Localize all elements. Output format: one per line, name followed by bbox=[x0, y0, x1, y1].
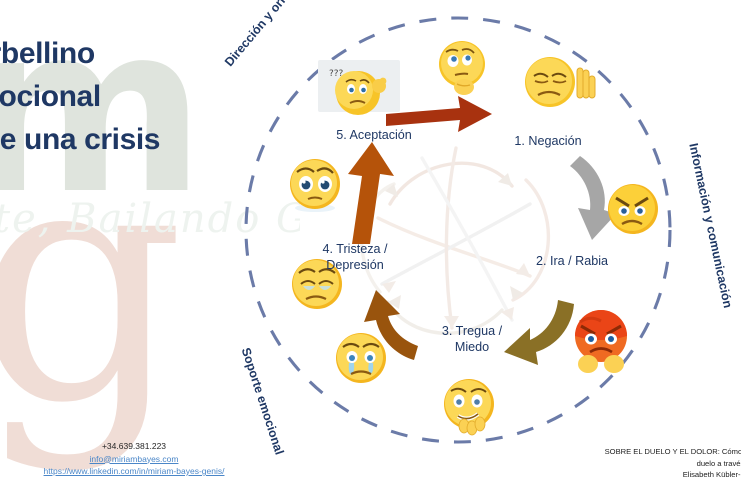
stage-label-5: 5. Aceptación bbox=[314, 128, 434, 144]
source-line-1: SOBRE EL DUELO Y EL DOLOR: Cómo encon bbox=[520, 446, 741, 458]
slide-canvas: m g te, Bailando Greis Torbellino emocio… bbox=[0, 0, 741, 486]
stage-label-2: 2. Ira / Rabia bbox=[512, 254, 632, 270]
grief-cycle-diagram: ??? bbox=[230, 8, 741, 478]
face-sad-single-tear bbox=[332, 328, 390, 388]
face-angry bbox=[604, 180, 662, 238]
face-dismissive-hand bbox=[520, 52, 598, 112]
source-line-3: Elisabeth Kübler-Ross & bbox=[520, 469, 741, 481]
contact-block: +34.639.381.223 info@miriambayes.com htt… bbox=[0, 440, 268, 478]
face-rage-red-fists bbox=[568, 306, 634, 374]
watermark-letter-g: g bbox=[0, 118, 185, 448]
page-title: Torbellino emocional ante una crisis bbox=[0, 32, 226, 161]
source-line-2: duelo a través de su bbox=[520, 458, 741, 470]
page-title-line-3: ante una crisis bbox=[0, 118, 226, 161]
face-thinking-hand-chin bbox=[433, 36, 493, 98]
contact-linkedin-link[interactable]: https://www.linkedin.com/in/miriam-bayes… bbox=[44, 466, 225, 476]
face-thinking-scratching-head: ??? bbox=[327, 60, 389, 118]
source-citation: SOBRE EL DUELO Y EL DOLOR: Cómo encon du… bbox=[520, 446, 741, 481]
arrow-acceptance-to-denial bbox=[386, 96, 492, 132]
arrow-sadness-to-acceptance bbox=[348, 142, 394, 244]
stage-label-3: 3. Tregua / Miedo bbox=[412, 324, 532, 355]
face-worried-big-eyes bbox=[286, 156, 344, 216]
stage-label-1: 1. Negación bbox=[488, 134, 608, 150]
stage-label-4: 4. Tristeza / Depresión bbox=[290, 242, 420, 273]
page-title-line-1: Torbellino bbox=[0, 32, 226, 75]
contact-phone: +34.639.381.223 bbox=[0, 440, 268, 453]
page-title-line-2: emocional bbox=[0, 75, 226, 118]
face-fearful-biting-nails bbox=[438, 374, 500, 438]
contact-email-link[interactable]: info@miriambayes.com bbox=[90, 454, 179, 464]
